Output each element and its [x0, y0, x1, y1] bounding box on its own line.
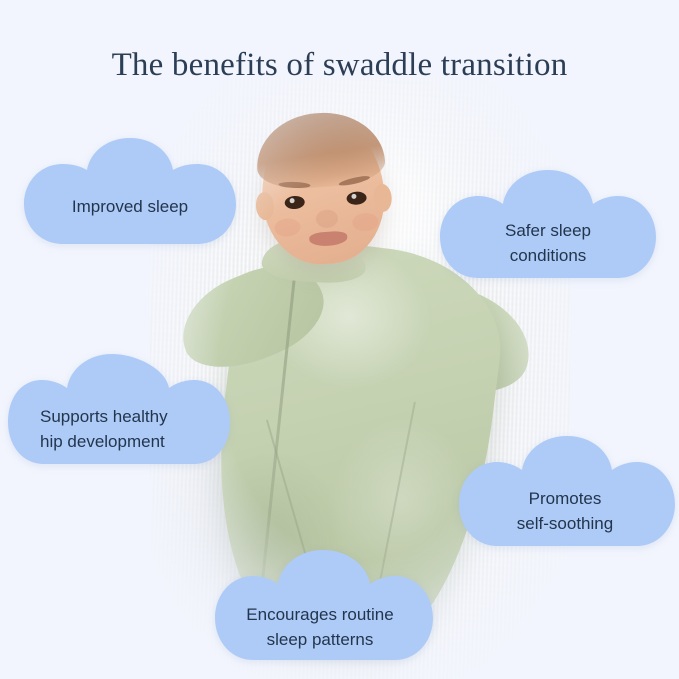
benefit-cloud-improved-sleep: Improved sleep	[22, 132, 238, 262]
baby-eyebrow-left	[278, 181, 310, 188]
benefit-label-self-soothing: Promotes self-soothing	[455, 486, 675, 536]
benefit-cloud-safer-sleep: Safer sleep conditions	[440, 166, 656, 296]
baby-eye-right	[346, 191, 367, 205]
benefit-label-hip-development: Supports healthy hip development	[8, 404, 230, 454]
benefit-label-improved-sleep: Improved sleep	[22, 194, 238, 219]
benefit-label-safer-sleep: Safer sleep conditions	[440, 218, 656, 268]
baby-mouth	[309, 230, 348, 247]
benefit-cloud-sleep-patterns: Encourages routine sleep patterns	[207, 546, 433, 679]
benefit-label-sleep-patterns: Encourages routine sleep patterns	[207, 602, 433, 652]
benefit-cloud-self-soothing: Promotes self-soothing	[455, 432, 675, 564]
baby-ear-left	[255, 191, 275, 220]
page-title: The benefits of swaddle transition	[0, 44, 679, 86]
baby-eye-left	[284, 195, 305, 209]
benefit-cloud-hip-development: Supports healthy hip development	[8, 350, 230, 482]
baby-nose	[315, 209, 338, 228]
baby-cheek-right	[352, 212, 379, 232]
baby-cheek-left	[274, 218, 301, 238]
baby-ear-right	[373, 183, 393, 212]
swaddle-benefits-infographic: The benefits of swaddle transition Impro…	[0, 0, 679, 679]
